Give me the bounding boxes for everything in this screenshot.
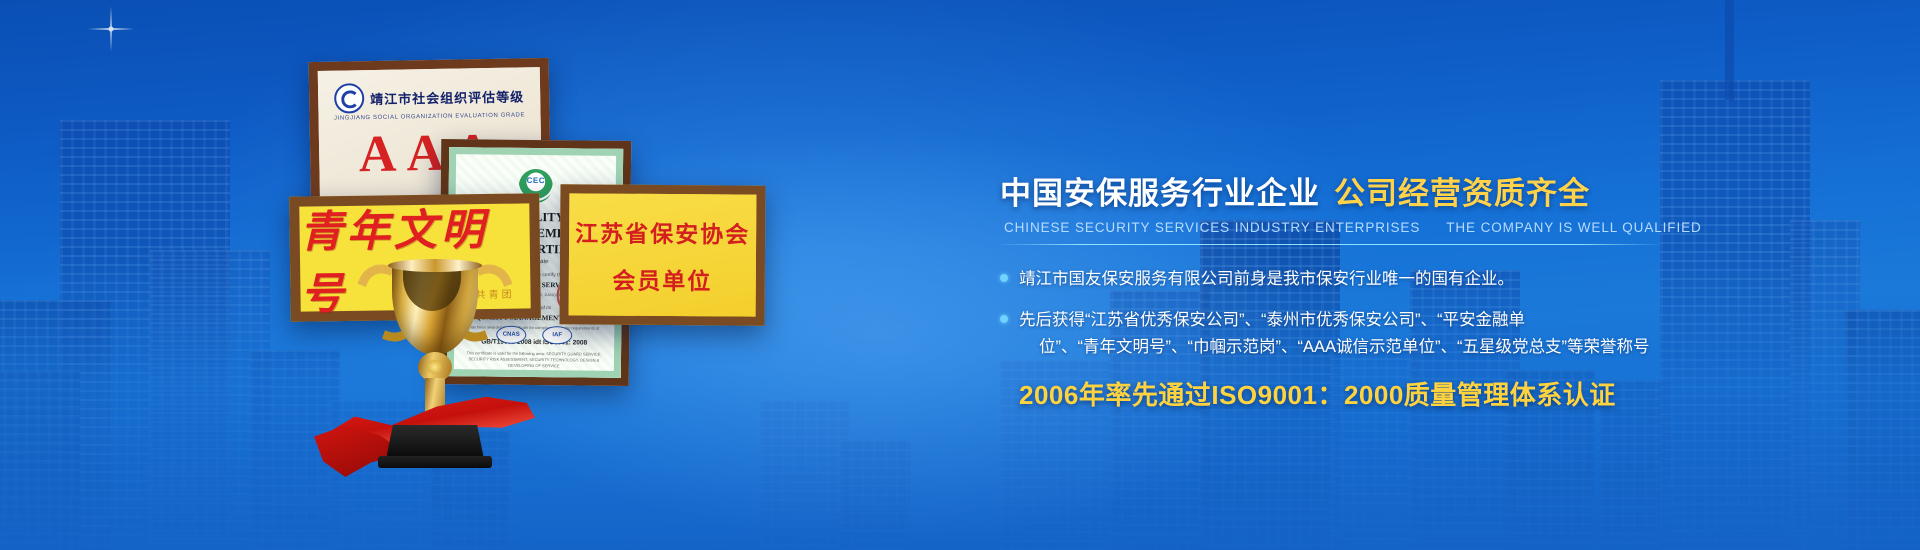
headline-row: 中国安保服务行业企业 公司经营资质齐全 — [1000, 168, 1700, 213]
subtitle-en-left: CHINESE SECURITY SERVICES INDUSTRY ENTER… — [1004, 220, 1420, 235]
headline-accent: 公司经营资质齐全 — [1334, 168, 1590, 213]
bullet-text-2-line2: 位”、“青年文明号”、“巾帼示范岗”、“AAA诚信示范单位”、“五星级党总支”等… — [1019, 334, 1649, 361]
bullet-list: 靖江市国友保安服务有限公司前身是我市保安行业唯一的国有企业。 先后获得“江苏省优… — [1000, 266, 1700, 361]
assoc-line2: 会员单位 — [612, 261, 712, 296]
aaa-title-en: JINGJIANG SOCIAL ORGANIZATION EVALUATION… — [319, 112, 541, 122]
star-glint-icon — [88, 6, 134, 52]
gold-trophy-icon — [340, 245, 530, 475]
official-seal-icon — [334, 83, 365, 114]
certificate-cluster: 靖江市社会组织评估等级 JINGJIANG SOCIAL ORGANIZATIO… — [280, 40, 920, 520]
banner-text-column: 中国安保服务行业企业 公司经营资质齐全 CHINESE SECURITY SER… — [1000, 168, 1700, 412]
company-qualification-banner: 靖江市社会组织评估等级 JINGJIANG SOCIAL ORGANIZATIO… — [0, 0, 1920, 550]
headline-primary: 中国安保服务行业企业 — [1000, 168, 1320, 213]
trophy-rim — [388, 259, 482, 272]
list-item: 先后获得“江苏省优秀保安公司”、“泰州市优秀保安公司”、“平安金融单 位”、“青… — [1000, 307, 1700, 361]
antenna-spire — [1725, 0, 1734, 100]
bullet-dot-icon — [1000, 315, 1008, 323]
divider-line — [1000, 244, 1660, 245]
subtitle-en-right: THE COMPANY IS WELL QUALIFIED — [1446, 220, 1701, 235]
subtitle-row: CHINESE SECURITY SERVICES INDUSTRY ENTER… — [1000, 220, 1700, 235]
jiangsu-security-association-plaque: 江苏省保安协会 会员单位 — [560, 184, 766, 325]
aaa-title-cn: 靖江市社会组织评估等级 — [370, 86, 524, 108]
bullet-text-2-line1: 先后获得“江苏省优秀保安公司”、“泰州市优秀保安公司”、“平安金融单 — [1019, 311, 1525, 329]
assoc-line1: 江苏省保安协会 — [575, 214, 750, 249]
bullet-text-2: 先后获得“江苏省优秀保安公司”、“泰州市优秀保安公司”、“平安金融单 位”、“青… — [1019, 307, 1649, 361]
iso-highlight-text: 2006年率先通过ISO9001：2000质量管理体系认证 — [1000, 375, 1700, 412]
trophy-base — [386, 425, 484, 459]
list-item: 靖江市国友保安服务有限公司前身是我市保安行业唯一的国有企业。 — [1000, 266, 1700, 293]
trophy-base-plinth — [378, 456, 492, 468]
bullet-dot-icon — [1000, 274, 1008, 282]
bullet-text-1: 靖江市国友保安服务有限公司前身是我市保安行业唯一的国有企业。 — [1019, 266, 1514, 293]
iaf-logo-icon: IAF — [542, 326, 572, 344]
